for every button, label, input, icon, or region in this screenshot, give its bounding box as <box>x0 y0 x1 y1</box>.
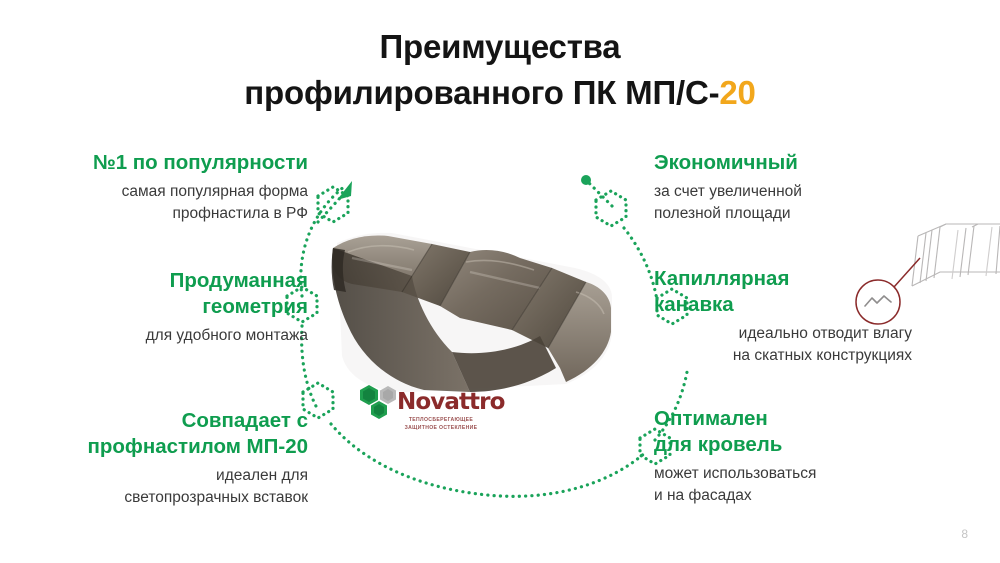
feature-match-profile-heading: Совпадает с профнастилом МП-20 <box>10 408 308 460</box>
feature-optimal-roof: Оптимален для кровель может использовать… <box>654 406 954 507</box>
page-number: 8 <box>961 527 968 541</box>
feature-match-profile: Совпадает с профнастилом МП-20 идеален д… <box>10 408 308 509</box>
arrow-head-icon <box>337 181 352 200</box>
page-title-accent: 20 <box>719 74 755 111</box>
feature-match-profile-body: идеален для светопрозрачных вставок <box>10 465 308 509</box>
line-art-corrugated-sheet <box>912 224 1000 286</box>
logo-tagline: ТЕПЛОСБЕРЕГАЮЩЕЕ ЗАЩИТНОЕ ОСТЕКЛЕНИЕ <box>398 417 484 433</box>
page-title: Преимущества профилированного ПК МП/С-20 <box>0 24 1000 115</box>
feature-capillary-groove-heading: Капиллярная канавка <box>654 266 912 318</box>
feature-economy-heading: Экономичный <box>654 150 954 176</box>
page-title-line-2: профилированного ПК МП/С-20 <box>0 70 1000 116</box>
feature-popularity-heading: №1 по популярности <box>20 150 308 176</box>
sheet-body <box>332 233 612 392</box>
feature-economy: Экономичный за счет увеличенной полезной… <box>654 150 954 225</box>
feature-popularity-body: самая популярная форма профнастила в РФ <box>20 181 308 225</box>
hexagon-node-top-right <box>596 191 626 226</box>
feature-capillary-groove: Капиллярная канавка идеально отводит вла… <box>654 266 912 367</box>
feature-geometry: Продуманная геометрия для удобного монта… <box>20 268 308 347</box>
logo-wordmark: Novattro <box>397 391 505 414</box>
feature-popularity: №1 по популярности самая популярная форм… <box>20 150 308 225</box>
feature-optimal-roof-heading: Оптимален для кровель <box>654 406 954 458</box>
feature-economy-body: за счет увеличенной полезной площади <box>654 181 954 225</box>
circuit-endpoint-dot <box>581 175 591 185</box>
hexagon-node-top-left <box>318 187 348 222</box>
page-title-line-1: Преимущества <box>0 24 1000 70</box>
feature-optimal-roof-body: может использоваться и на фасадах <box>654 463 954 507</box>
page-title-prefix: профилированного ПК МП/С- <box>244 74 719 111</box>
feature-geometry-heading: Продуманная геометрия <box>20 268 308 320</box>
novattro-logo: Novattro ТЕПЛОСБЕРЕГАЮЩЕЕ ЗАЩИТНОЕ ОСТЕК… <box>357 383 482 443</box>
feature-capillary-groove-body: идеально отводит влагу на скатных констр… <box>654 323 912 367</box>
slide-root: Преимущества профилированного ПК МП/С-20 <box>0 0 1000 563</box>
feature-geometry-body: для удобного монтажа <box>20 325 308 347</box>
